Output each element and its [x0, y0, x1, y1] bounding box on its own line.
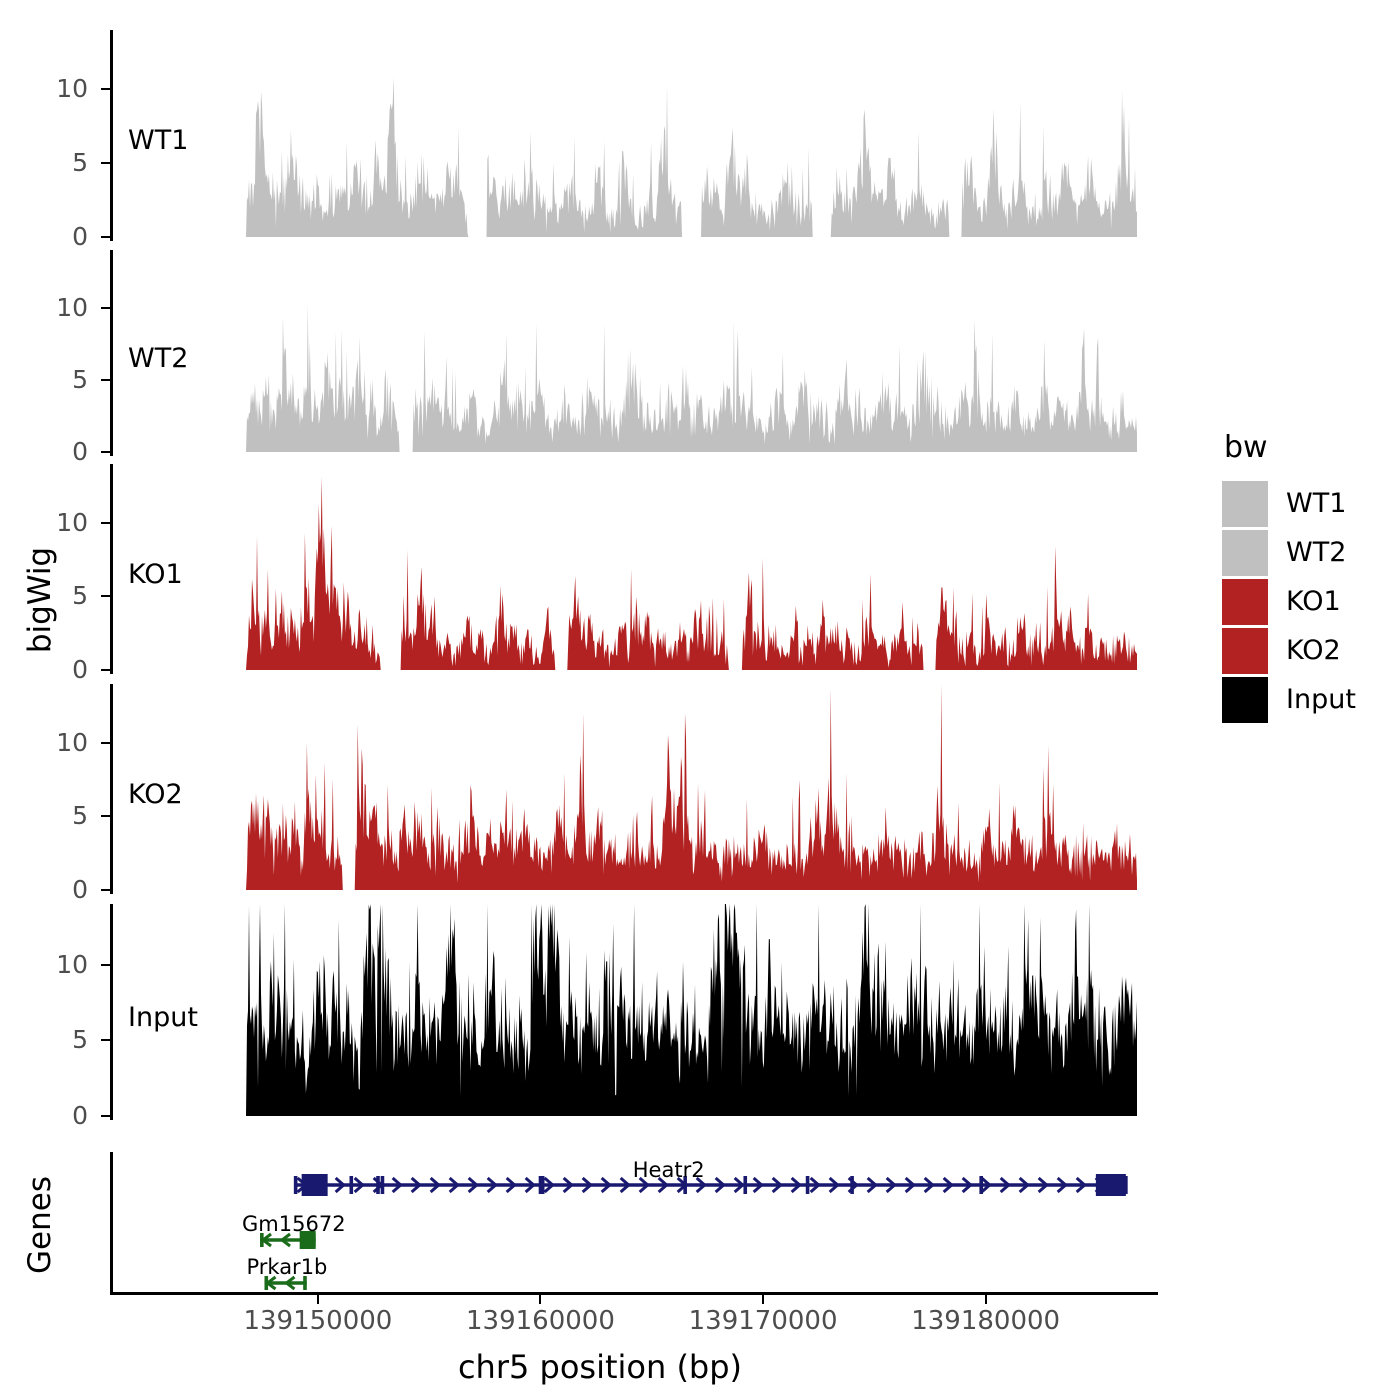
legend-label: WT2	[1286, 537, 1346, 568]
legend-item-ko2[interactable]: KO2	[1222, 626, 1397, 675]
legend-label: KO2	[1286, 635, 1341, 666]
legend-item-input[interactable]: Input	[1222, 675, 1397, 724]
coverage-area-input	[240, 904, 1137, 1116]
coverage-area-wt1	[240, 77, 1137, 237]
x-tick-label: 139180000	[876, 1306, 1096, 1336]
legend-swatch-ko2	[1222, 628, 1268, 674]
x-axis-line	[110, 1292, 1158, 1295]
legend-item-wt1[interactable]: WT1	[1222, 479, 1397, 528]
coverage-area-ko2	[240, 684, 1137, 890]
legend-swatch-wt1	[1222, 481, 1268, 527]
legend-label: Input	[1286, 684, 1356, 715]
gene-exon-tick	[806, 1176, 810, 1194]
gene-exon-tick	[376, 1176, 380, 1194]
legend-swatch-wt2	[1222, 530, 1268, 576]
x-tick-mark	[317, 1295, 319, 1304]
legend-swatch-input	[1222, 677, 1268, 723]
x-tick-label: 139170000	[653, 1306, 873, 1336]
gene-label-heatr2: Heatr2	[633, 1158, 705, 1182]
x-tick-mark	[762, 1295, 764, 1304]
coverage-area-wt2	[240, 304, 1137, 452]
track-label-ko1: KO1	[128, 559, 183, 590]
track-label-ko2: KO2	[128, 779, 183, 810]
gene-label-prkar1b: Prkar1b	[246, 1255, 327, 1279]
track-label-input: Input	[128, 1002, 198, 1033]
coverage-area-ko1	[240, 477, 1137, 671]
x-tick-label: 139160000	[430, 1306, 650, 1336]
legend-item-wt2[interactable]: WT2	[1222, 528, 1397, 577]
x-axis-title: chr5 position (bp)	[0, 1348, 1200, 1386]
legend-label: WT1	[1286, 488, 1346, 519]
x-tick-mark	[985, 1295, 987, 1304]
legend: bw WT1WT2KO1KO2Input	[1222, 430, 1397, 724]
gene-exon-tick	[541, 1176, 545, 1194]
gene-exon-tick	[294, 1176, 298, 1194]
gene-label-gm15672: Gm15672	[242, 1212, 346, 1236]
gene-exon-tick	[349, 1176, 353, 1194]
x-tick-mark	[539, 1295, 541, 1304]
legend-swatch-ko1	[1222, 579, 1268, 625]
x-tick-label: 139150000	[208, 1306, 428, 1336]
genes-track-area: Heatr2Gm15672Prkar1b	[0, 1140, 1200, 1292]
track-label-wt2: WT2	[128, 343, 188, 374]
track-label-wt1: WT1	[128, 125, 188, 156]
legend-items: WT1WT2KO1KO2Input	[1222, 479, 1397, 724]
legend-label: KO1	[1286, 586, 1341, 617]
legend-title: bw	[1224, 430, 1397, 465]
legend-item-ko1[interactable]: KO1	[1222, 577, 1397, 626]
